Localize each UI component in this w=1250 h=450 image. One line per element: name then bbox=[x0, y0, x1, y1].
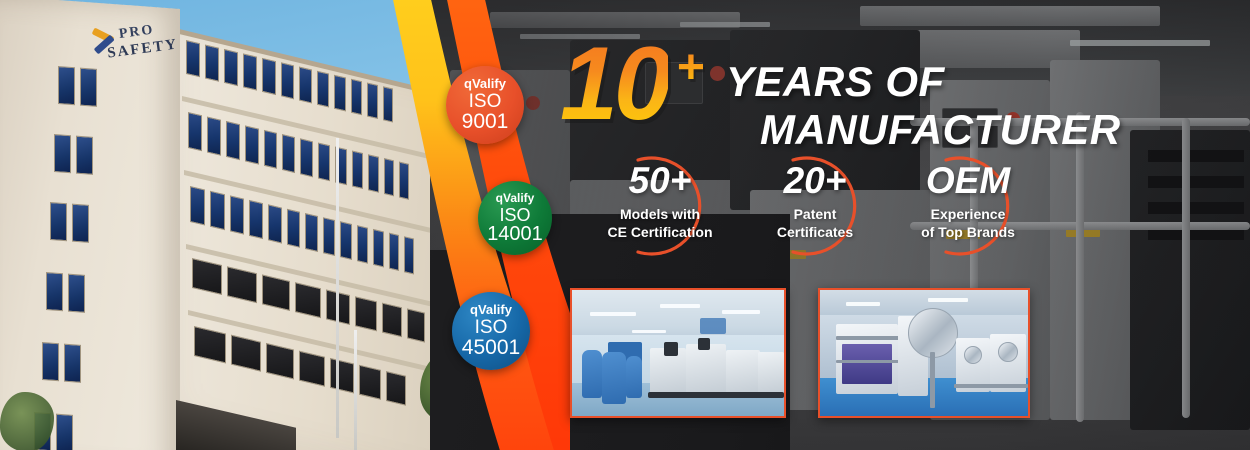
machinery-cross-bar bbox=[836, 336, 902, 340]
cleanroom-ceiling-light bbox=[632, 330, 666, 333]
headline-line-2: MANUFACTURER bbox=[760, 106, 1121, 154]
headline-number: 10 bbox=[560, 40, 668, 129]
headline-plus-sign: + bbox=[676, 44, 704, 92]
iso-badge-brand: qValify bbox=[496, 192, 535, 204]
stat-description-line-1: Experience bbox=[931, 206, 1006, 222]
cleanroom-worker bbox=[626, 356, 642, 398]
headline-line-1: YEARS OF bbox=[726, 58, 945, 106]
machinery-small-roll bbox=[964, 346, 982, 364]
street-lamp-pole bbox=[354, 330, 357, 450]
iso-badge-number: 14001 bbox=[487, 224, 543, 245]
iso-badge-number: 45001 bbox=[462, 337, 520, 359]
cleanroom-ceiling-light bbox=[722, 310, 760, 314]
machinery-large-roll bbox=[908, 308, 958, 358]
photo-thumb-cleanroom[interactable] bbox=[570, 288, 786, 418]
flag-pole bbox=[336, 138, 339, 438]
stat-patents: 20+ Patent Certificates bbox=[735, 162, 895, 242]
iso-badge-standard: ISO bbox=[499, 206, 530, 224]
stat-description: Experience of Top Brands bbox=[888, 206, 1048, 242]
stat-oem: OEM Experience of Top Brands bbox=[888, 162, 1048, 242]
cleanroom-machine bbox=[758, 352, 784, 394]
iso-badge-9001[interactable]: qValify ISO 9001 bbox=[446, 66, 524, 144]
stat-description-line-2: Certificates bbox=[777, 224, 853, 240]
headline-block: 10 + YEARS OF MANUFACTURER bbox=[560, 34, 1080, 154]
stat-value: 50+ bbox=[580, 162, 740, 199]
machinery-scene bbox=[820, 290, 1028, 416]
tree bbox=[0, 392, 54, 450]
stat-description-line-2: of Top Brands bbox=[921, 224, 1015, 240]
machinery-ceiling-light bbox=[846, 302, 880, 306]
stat-value: OEM bbox=[888, 162, 1048, 199]
cleanroom-machine bbox=[686, 344, 726, 394]
cleanroom-conveyor bbox=[648, 392, 784, 398]
iso-badge-standard: ISO bbox=[475, 318, 508, 337]
tower-window-row bbox=[46, 272, 85, 313]
photo-thumb-machinery[interactable] bbox=[818, 288, 1030, 418]
machinery-small-roll bbox=[998, 342, 1018, 362]
iso-badge-standard: ISO bbox=[469, 92, 502, 111]
stat-description: Models with CE Certification bbox=[580, 206, 740, 242]
stats-row: 50+ Models with CE Certification 20+ Pat… bbox=[580, 162, 1080, 272]
machinery-ceiling-light bbox=[928, 298, 968, 302]
iso-badge-brand: qValify bbox=[464, 77, 506, 90]
cleanroom-worker bbox=[582, 350, 602, 398]
cleanroom-ceiling-light bbox=[660, 304, 700, 308]
stat-description: Patent Certificates bbox=[735, 206, 895, 242]
iso-badge-14001[interactable]: qValify ISO 14001 bbox=[478, 181, 552, 255]
tower-window-row bbox=[54, 134, 93, 175]
cleanroom-scene bbox=[572, 290, 784, 416]
tower-window-row bbox=[50, 202, 89, 243]
stat-description-line-2: CE Certification bbox=[607, 224, 712, 240]
cleanroom-worker bbox=[602, 352, 626, 404]
cleanroom-machine-detail bbox=[698, 338, 710, 350]
cleanroom-ceiling-light bbox=[590, 312, 636, 316]
iso-badge-number: 9001 bbox=[462, 111, 509, 133]
iso-badge-45001[interactable]: qValify ISO 45001 bbox=[452, 292, 530, 370]
machinery-coil-stack bbox=[842, 344, 892, 384]
tower-window-row bbox=[42, 342, 81, 383]
cleanroom-hvac-unit bbox=[700, 318, 726, 334]
company-profile-banner: PRO SAFETY bbox=[0, 0, 1250, 450]
pro-safety-logo-icon bbox=[90, 27, 117, 56]
machinery-support-post bbox=[930, 352, 935, 408]
machinery-cross-bar bbox=[836, 360, 902, 363]
cleanroom-machine-detail bbox=[664, 342, 678, 356]
cleanroom-machine bbox=[726, 350, 760, 394]
iso-badge-brand: qValify bbox=[470, 303, 512, 316]
stat-description-line-1: Patent bbox=[794, 206, 837, 222]
stat-value: 20+ bbox=[735, 162, 895, 199]
stat-models-ce: 50+ Models with CE Certification bbox=[580, 162, 740, 242]
tower-window-row bbox=[58, 66, 97, 107]
machinery-cross-bar bbox=[954, 384, 1028, 388]
stat-description-line-1: Models with bbox=[620, 206, 700, 222]
